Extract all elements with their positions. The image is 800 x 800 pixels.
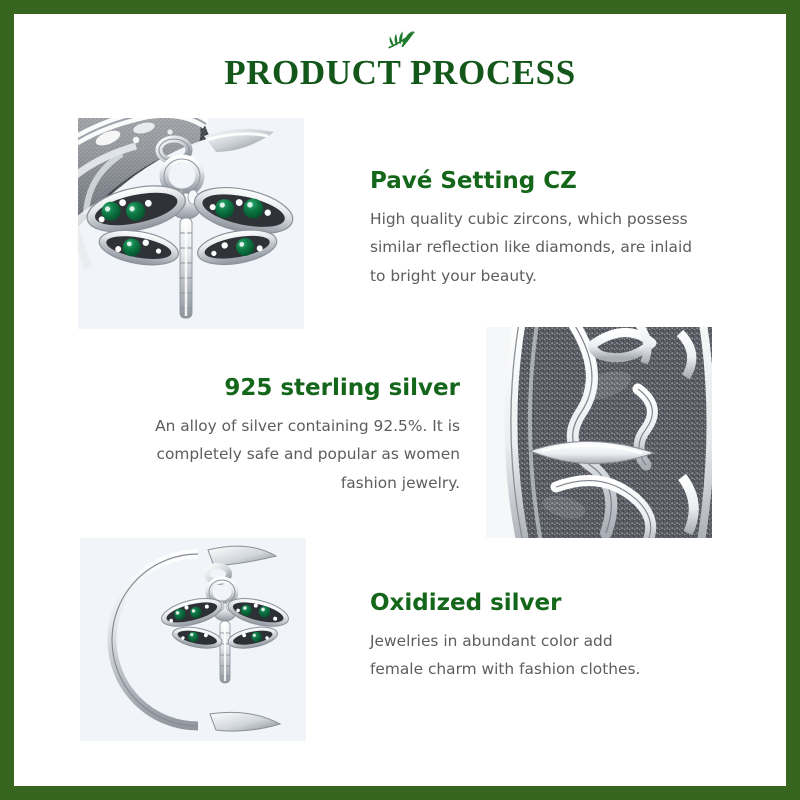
body-line: An alloy of silver containing 92.5%. It … bbox=[100, 412, 460, 441]
section-heading: Oxidized silver bbox=[370, 589, 730, 618]
section-heading: Pavé Setting CZ bbox=[370, 167, 730, 196]
body-line: completely safe and popular as women bbox=[100, 440, 460, 469]
section-925-sterling-silver: 925 sterling silver An alloy of silver c… bbox=[100, 374, 460, 497]
body-line: female charm with fashion clothes. bbox=[370, 655, 730, 684]
section-oxidized-silver: Oxidized silver Jewelries in abundant co… bbox=[370, 589, 730, 684]
oxidized-filigree-macro-photo bbox=[486, 327, 712, 538]
header: PRODUCT PROCESS bbox=[14, 22, 786, 93]
section-body: Jewelries in abundant color add female c… bbox=[370, 627, 730, 684]
dragonfly-charm-closeup-photo bbox=[78, 118, 304, 329]
body-line: Jewelries in abundant color add bbox=[370, 627, 730, 656]
dragonfly-closeup-illustration bbox=[78, 118, 304, 329]
filigree-macro-illustration bbox=[486, 327, 712, 538]
body-line: similar reflection like diamonds, are in… bbox=[370, 233, 730, 262]
product-process-infographic: PRODUCT PROCESS bbox=[0, 0, 800, 800]
section-pave-setting-cz: Pavé Setting CZ High quality cubic zirco… bbox=[370, 167, 730, 290]
page-title: PRODUCT PROCESS bbox=[14, 54, 786, 93]
crescent-moon-dragonfly-charm-photo bbox=[80, 538, 306, 741]
moon-dragonfly-charm-illustration bbox=[80, 538, 306, 741]
section-body: An alloy of silver containing 92.5%. It … bbox=[100, 412, 460, 498]
infographic-canvas: PRODUCT PROCESS bbox=[14, 14, 786, 786]
section-body: High quality cubic zircons, which posses… bbox=[370, 205, 730, 291]
body-line: to bright your beauty. bbox=[370, 262, 730, 291]
leaf-branch-icon bbox=[377, 22, 423, 52]
section-heading: 925 sterling silver bbox=[100, 374, 460, 403]
body-line: High quality cubic zircons, which posses… bbox=[370, 205, 730, 234]
body-line: fashion jewelry. bbox=[100, 469, 460, 498]
